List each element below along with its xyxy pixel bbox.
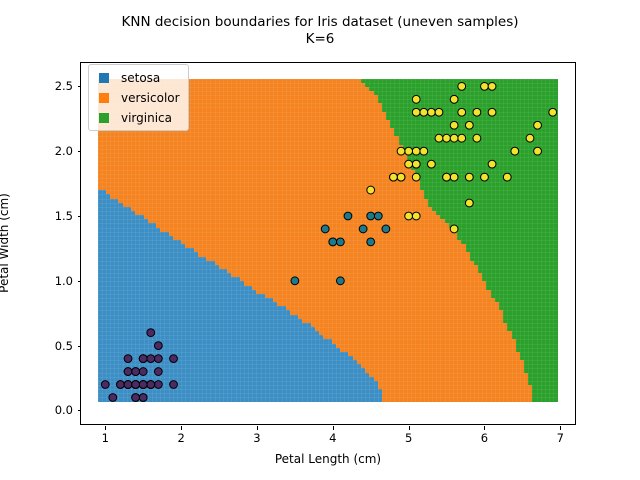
data-point [154,368,162,376]
data-point [124,355,132,363]
data-point [154,355,162,363]
data-point [412,108,420,116]
data-point [147,355,155,363]
data-point [374,212,382,220]
data-point [450,173,458,181]
data-point [154,342,162,350]
data-point [412,212,420,220]
data-point [397,147,405,155]
y-axis-label: Petal Width (cm) [0,193,11,293]
data-point [420,108,428,116]
data-point [488,160,496,168]
data-point [511,147,519,155]
data-point [473,134,481,142]
legend-label-setosa: setosa [121,72,160,84]
legend-label-virginica: virginica [121,112,172,124]
data-point [359,225,367,233]
x-tick [409,426,410,430]
x-tick-label: 2 [177,431,184,445]
series-setosa [101,329,177,402]
y-tick [78,86,82,87]
data-point [534,121,542,129]
data-point [139,355,147,363]
x-tick [105,426,106,430]
series-versicolor [291,212,390,285]
data-point [154,381,162,389]
data-point [132,394,140,402]
data-point [367,238,375,246]
data-point [450,225,458,233]
data-point [488,82,496,90]
y-tick-label: 0.5 [55,339,73,353]
data-point [139,368,147,376]
figure: KNN decision boundaries for Iris dataset… [0,0,640,480]
data-point [132,381,140,389]
data-point [412,160,420,168]
data-point [170,355,178,363]
x-axis-label: Petal Length (cm) [80,452,576,466]
legend-item-virginica[interactable]: virginica [95,110,180,125]
data-point [458,134,466,142]
x-tick [181,426,182,430]
y-tick-label: 1.0 [55,274,73,288]
y-tick [78,281,82,282]
x-tick [560,426,561,430]
data-point [481,173,489,181]
data-point [450,95,458,103]
data-point [170,381,178,389]
data-point [435,134,443,142]
data-point [132,368,140,376]
data-point [473,108,481,116]
data-point [147,329,155,337]
legend[interactable]: setosa versicolor virginica [88,64,189,131]
data-point [458,82,466,90]
data-point [412,95,420,103]
data-point [397,173,405,181]
data-point [443,173,451,181]
data-point [427,108,435,116]
data-point [405,147,413,155]
x-tick [257,426,258,430]
data-point [336,238,344,246]
x-tick [484,426,485,430]
legend-swatch-versicolor [99,93,109,103]
data-point [101,381,109,389]
data-point [526,134,534,142]
data-point [450,134,458,142]
data-point [405,160,413,168]
data-point [503,173,511,181]
y-tick [78,216,82,217]
data-point [147,381,155,389]
data-point [534,147,542,155]
legend-swatch-setosa [99,73,109,83]
legend-item-versicolor[interactable]: versicolor [95,90,180,105]
data-point [321,225,329,233]
data-point [367,186,375,194]
data-point [412,173,420,181]
data-point [124,368,132,376]
data-point [465,199,473,207]
data-point [329,238,337,246]
y-tick-label: 2.5 [55,79,73,93]
data-point [481,82,489,90]
data-point [291,277,299,285]
data-point [435,108,443,116]
data-point [139,394,147,402]
data-point [549,108,557,116]
data-point [443,134,451,142]
data-point [117,381,125,389]
x-tick-label: 5 [405,431,412,445]
y-tick-label: 2.0 [55,144,73,158]
legend-label-versicolor: versicolor [121,92,180,104]
y-tick [78,151,82,152]
series-virginica [367,82,557,232]
data-point [405,212,413,220]
x-tick-label: 4 [329,431,336,445]
legend-swatch-virginica [99,113,109,123]
y-tick-label: 1.5 [55,209,73,223]
data-point [412,147,420,155]
data-point [488,108,496,116]
y-tick [78,346,82,347]
data-point [344,212,352,220]
x-tick-label: 6 [481,431,488,445]
x-tick-label: 3 [253,431,260,445]
data-point [109,394,117,402]
data-point [465,173,473,181]
data-point [390,173,398,181]
y-tick-label: 0.0 [55,403,73,417]
y-tick [78,410,82,411]
data-point [382,225,390,233]
data-point [420,147,428,155]
data-point [367,212,375,220]
data-point [139,381,147,389]
chart-title: KNN decision boundaries for Iris dataset… [0,14,640,48]
data-point [450,121,458,129]
x-tick [333,426,334,430]
x-tick-label: 1 [102,431,109,445]
data-point [465,121,473,129]
data-point [124,381,132,389]
data-point [458,108,466,116]
legend-item-setosa[interactable]: setosa [95,70,180,85]
x-tick-label: 7 [557,431,564,445]
data-point [427,160,435,168]
data-point [336,277,344,285]
